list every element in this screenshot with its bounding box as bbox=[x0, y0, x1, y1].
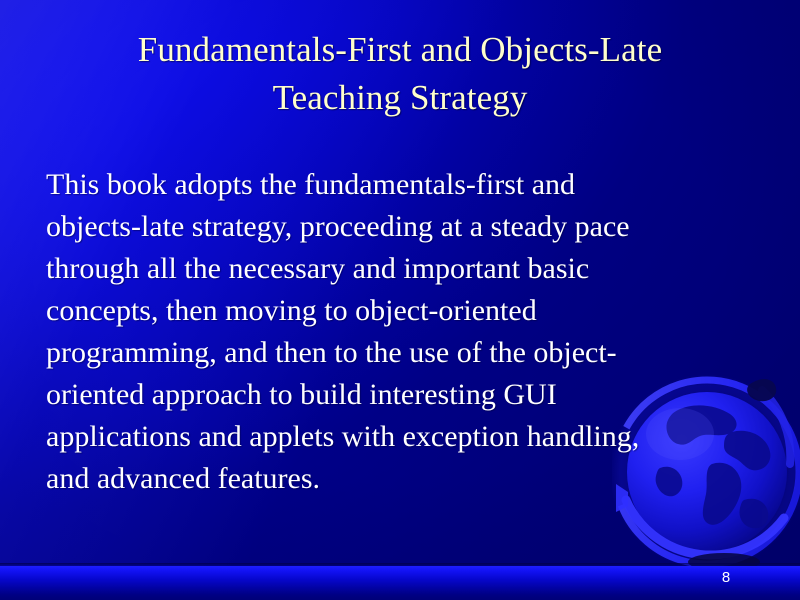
page-number: 8 bbox=[706, 566, 746, 590]
body-line: objects-late strategy, proceeding at a s… bbox=[46, 206, 752, 248]
body-line: oriented approach to build interesting G… bbox=[46, 374, 752, 416]
bottom-accent-band bbox=[0, 566, 800, 600]
body-line: concepts, then moving to object-oriented bbox=[46, 290, 752, 332]
body-line: applications and applets with exception … bbox=[46, 416, 752, 458]
body-line: programming, and then to the use of the … bbox=[46, 332, 752, 374]
body-line: This book adopts the fundamentals-first … bbox=[46, 164, 752, 206]
slide-title-line-2: Teaching Strategy bbox=[26, 74, 774, 122]
presentation-slide: Fundamentals-First and Objects-Late Teac… bbox=[0, 0, 800, 600]
slide-title-line-1: Fundamentals-First and Objects-Late bbox=[26, 26, 774, 74]
body-line: through all the necessary and important … bbox=[46, 248, 752, 290]
slide-title: Fundamentals-First and Objects-Late Teac… bbox=[26, 26, 774, 122]
body-line: and advanced features. bbox=[46, 458, 752, 500]
slide-body-text: This book adopts the fundamentals-first … bbox=[46, 164, 752, 500]
